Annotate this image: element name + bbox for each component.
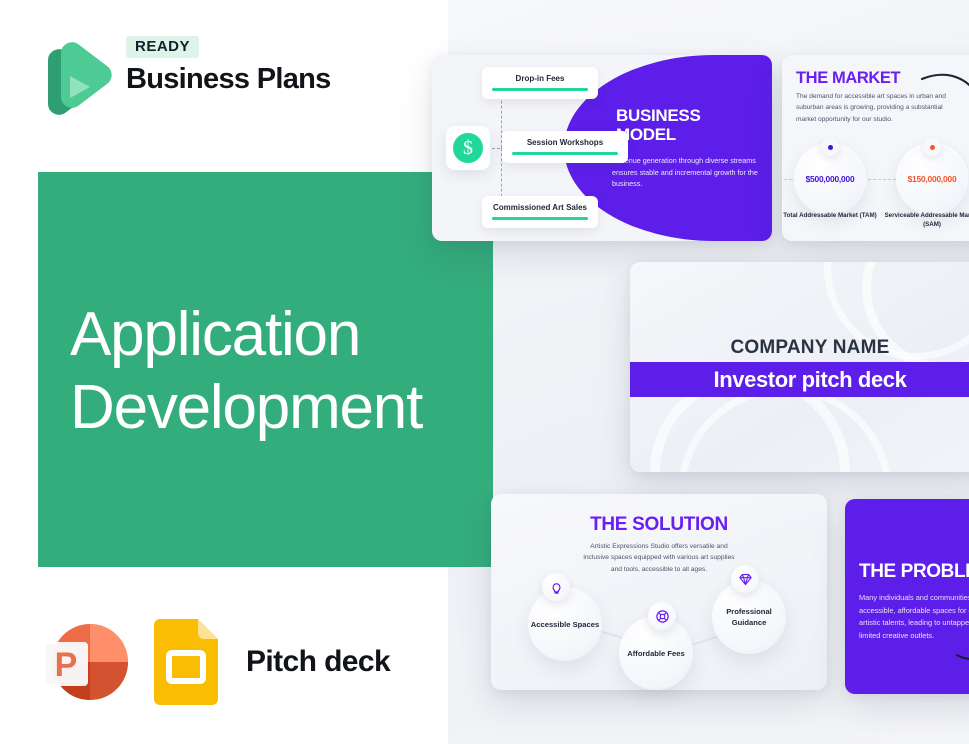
- business-model-title: BUSINESS MODEL: [616, 107, 764, 144]
- market-metric-tam-caption: Total Addressable Market (TAM): [775, 212, 885, 221]
- business-model-body: Revenue generation through diverse strea…: [612, 155, 764, 190]
- microsoft-powerpoint-icon: P: [40, 616, 132, 708]
- market-title: THE MARKET: [796, 69, 900, 88]
- business-model-node-1-label: Drop-in Fees: [492, 74, 588, 83]
- problem-title: THE PROBLEM: [859, 561, 969, 583]
- curved-arrow-icon: [920, 69, 969, 115]
- investor-headline: Investor pitch deck: [714, 367, 907, 393]
- lifebuoy-icon: [655, 609, 670, 624]
- brand-logo[interactable]: READY Business Plans: [38, 36, 368, 120]
- slide-template-preview: READY Business Plans Application Develop…: [0, 0, 969, 744]
- business-model-icon-card: $: [446, 126, 490, 170]
- play-triangle-logo-icon: [38, 38, 112, 116]
- market-metric-sam-caption: Serviceable Addressable Market (SAM): [877, 212, 969, 230]
- solution-item-3-icon-badge: [731, 565, 759, 593]
- problem-body: Many individuals and communities lack ac…: [859, 592, 969, 643]
- google-slides-icon: [154, 619, 218, 705]
- investor-headline-band: Investor pitch deck: [630, 362, 969, 397]
- format-icons-row: P Pitch deck: [40, 616, 390, 708]
- page-title-line2: Development: [70, 371, 490, 444]
- solution-title: THE SOLUTION: [491, 514, 827, 536]
- business-model-node-3-bar: [492, 217, 588, 220]
- market-metric-tam-value: $500,000,000: [806, 174, 855, 184]
- solution-item-2-icon-badge: [648, 602, 676, 630]
- business-model-node-3[interactable]: Commissioned Art Sales: [482, 196, 598, 228]
- solution-item-3-label: Professional Guidance: [712, 606, 786, 628]
- market-metric-sam-value: $150,000,000: [908, 174, 957, 184]
- business-model-node-1[interactable]: Drop-in Fees: [482, 67, 598, 99]
- diamond-icon: [738, 572, 753, 587]
- investor-company-name: COMPANY NAME: [630, 337, 969, 359]
- solution-item-1[interactable]: Accessible Spaces: [528, 587, 602, 661]
- market-metric-tam-dot: [821, 138, 839, 156]
- market-dash-mid: [868, 179, 896, 180]
- solution-item-1-label: Accessible Spaces: [531, 619, 599, 630]
- solution-body: Artistic Expressions Studio offers versa…: [581, 541, 737, 575]
- slide-the-problem[interactable]: THE PROBLEM Many individuals and communi…: [845, 499, 969, 694]
- brand-logo-text: READY Business Plans: [126, 36, 366, 96]
- swoosh-underline-icon: [955, 641, 969, 663]
- brand-name: Business Plans: [126, 64, 366, 96]
- business-model-node-2-bar: [512, 152, 618, 155]
- business-model-node-3-label: Commissioned Art Sales: [492, 203, 588, 212]
- slide-investor-pitch-deck[interactable]: COMPANY NAME Investor pitch deck: [630, 262, 969, 472]
- format-label: Pitch deck: [246, 645, 390, 679]
- dollar-sign-icon: $: [453, 133, 483, 163]
- page-title: Application Development: [70, 298, 490, 444]
- market-metric-sam[interactable]: $150,000,000: [896, 143, 968, 215]
- page-title-line1: Application: [70, 298, 490, 371]
- business-model-node-2-label: Session Workshops: [512, 138, 618, 147]
- solution-item-2-label: Affordable Fees: [627, 648, 684, 659]
- svg-text:P: P: [55, 646, 78, 684]
- market-metric-sam-dot: [923, 138, 941, 156]
- business-model-node-2[interactable]: Session Workshops: [502, 131, 628, 163]
- lightbulb-icon: [549, 580, 564, 595]
- solution-item-1-icon-badge: [542, 573, 570, 601]
- market-metric-tam[interactable]: $500,000,000: [794, 143, 866, 215]
- business-model-node-1-bar: [492, 88, 588, 91]
- ready-badge: READY: [126, 36, 199, 58]
